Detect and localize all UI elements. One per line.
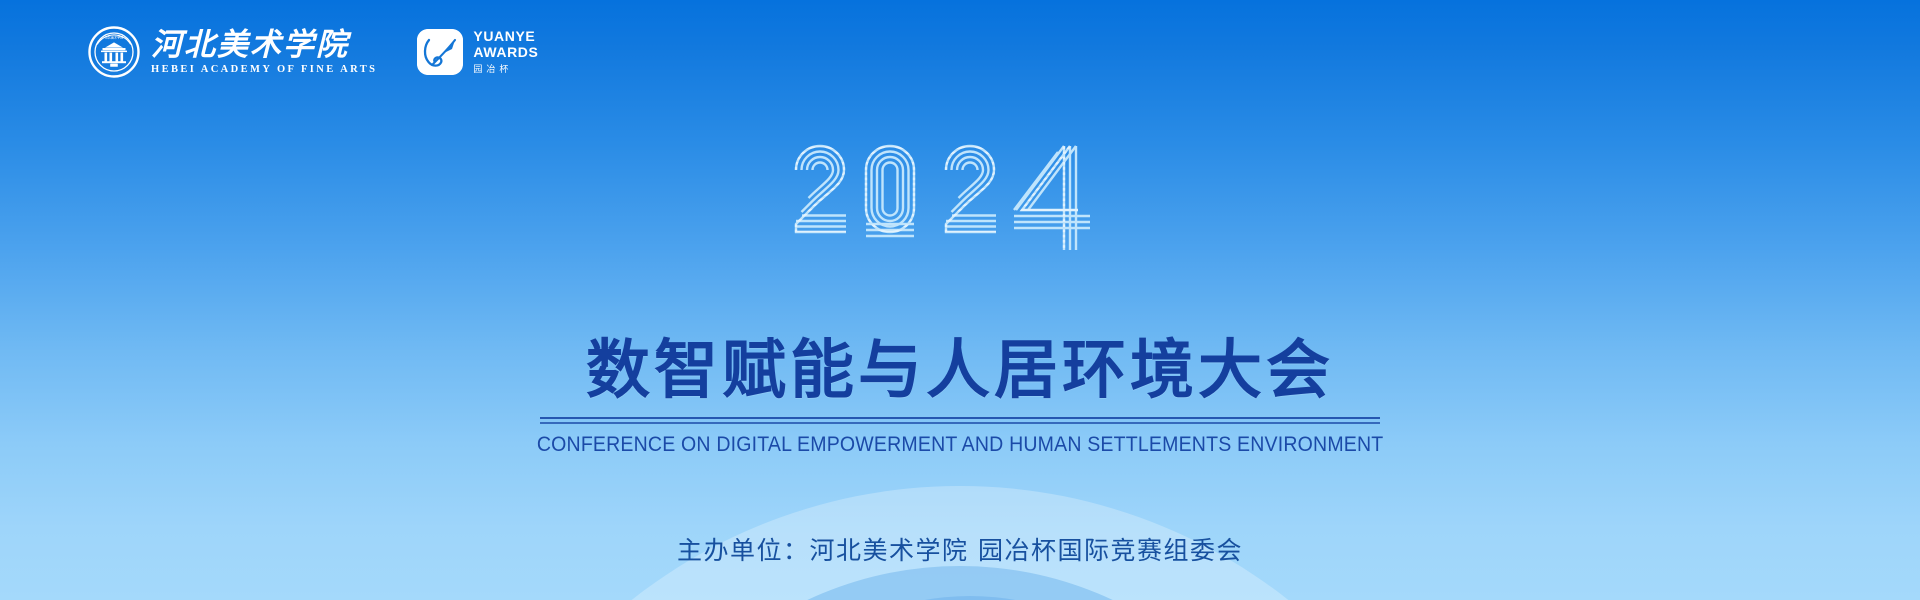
logo-row: 河北美术学院 河北美术学院 HEBEI ACADEMY OF FINE ARTS bbox=[88, 26, 538, 78]
hebei-name-cn: 河北美术学院 bbox=[151, 29, 349, 62]
page-title-en: CONFERENCE ON DIGITAL EMPOWERMENT AND HU… bbox=[537, 433, 1384, 457]
hebei-name-en: HEBEI ACADEMY OF FINE ARTS bbox=[151, 64, 377, 75]
headline-block: 数智赋能与人居环境大会 CONFERENCE ON DIGITAL EMPOWE… bbox=[0, 338, 1920, 457]
yuanye-wordmark: YUANYE AWARDS 园冶杯 bbox=[473, 29, 538, 74]
title-divider-line-1 bbox=[540, 417, 1380, 419]
page-title-cn: 数智赋能与人居环境大会 bbox=[586, 338, 1334, 405]
yuanye-line1: YUANYE bbox=[473, 29, 538, 44]
academy-seal-icon: 河北美术学院 bbox=[88, 26, 140, 78]
year-graphic: 2024 bbox=[0, 136, 1920, 258]
yuanye-awards-logo[interactable]: YUANYE AWARDS 园冶杯 bbox=[417, 29, 538, 75]
hebei-academy-logo[interactable]: 河北美术学院 河北美术学院 HEBEI ACADEMY OF FINE ARTS bbox=[88, 26, 377, 78]
yuanye-line2: AWARDS bbox=[473, 45, 538, 60]
organizer-line: 主办单位：河北美术学院 园冶杯国际竞赛组委会 bbox=[0, 531, 1920, 567]
conference-banner: 河北美术学院 河北美术学院 HEBEI ACADEMY OF FINE ARTS bbox=[0, 0, 1920, 600]
svg-text:河北美术学院: 河北美术学院 bbox=[105, 35, 124, 40]
yuanye-name-cn: 园冶杯 bbox=[473, 62, 538, 75]
title-divider bbox=[540, 417, 1380, 424]
hebei-wordmark: 河北美术学院 HEBEI ACADEMY OF FINE ARTS bbox=[151, 29, 377, 76]
title-divider-line-2 bbox=[540, 422, 1380, 424]
yuanye-leaf-icon bbox=[417, 29, 463, 75]
